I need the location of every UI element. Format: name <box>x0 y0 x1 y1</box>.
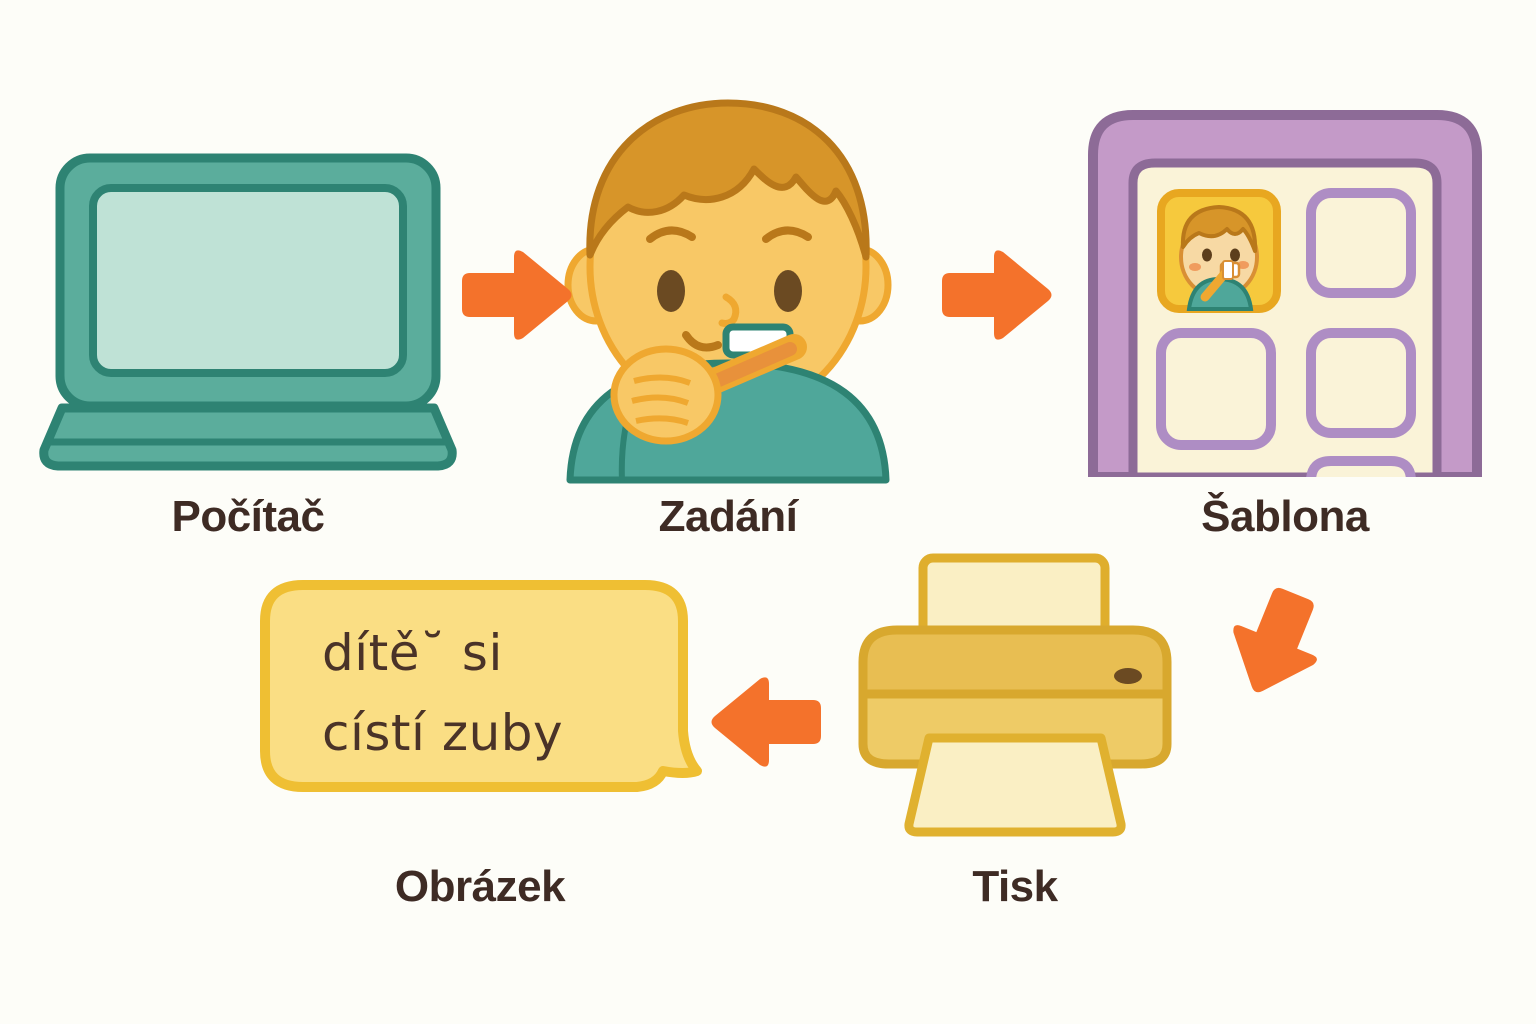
diagram-canvas: Počítač <box>0 0 1536 1024</box>
arrow-shape <box>942 250 1052 339</box>
laptop-icon[interactable] <box>38 150 458 480</box>
child-eye-left <box>657 270 685 312</box>
thumbnail-child <box>1181 207 1257 309</box>
template-cell-empty-1[interactable] <box>1311 193 1411 293</box>
arrow-shape <box>712 677 822 766</box>
speech-bubble-line-1: dítě˘ si <box>322 624 503 682</box>
arrow-down-left-icon <box>1203 575 1323 700</box>
printer-paper-out <box>909 738 1121 832</box>
arrow-shape <box>462 250 572 339</box>
node-label-obrazek: Obrázek <box>240 862 720 912</box>
template-cell-empty-4[interactable] <box>1311 461 1411 477</box>
printer-indicator-light <box>1114 668 1142 684</box>
node-label-pocitac: Počítač <box>38 492 458 542</box>
template-cell-filled <box>1161 193 1277 309</box>
arrow-shape <box>1215 577 1323 700</box>
laptop-screen <box>93 188 403 373</box>
template-cell-empty-2[interactable] <box>1161 333 1271 445</box>
child-brushing-teeth-icon[interactable] <box>558 95 898 485</box>
node-label-tisk: Tisk <box>845 862 1185 912</box>
template-cell-empty-3[interactable] <box>1311 333 1411 433</box>
laptop-base <box>44 408 452 466</box>
speech-bubble-line-2: cístí zuby <box>322 704 563 762</box>
node-label-sablona: Šablona <box>1085 492 1485 542</box>
child-eye-right <box>774 270 802 312</box>
arrow-right-icon-1 <box>452 245 577 345</box>
arrow-left-icon <box>706 672 831 772</box>
node-label-zadani: Zadání <box>548 492 908 542</box>
printer-icon[interactable] <box>845 548 1185 848</box>
template-grid-icon[interactable] <box>1085 105 1485 477</box>
arrow-right-icon-2 <box>932 245 1057 345</box>
